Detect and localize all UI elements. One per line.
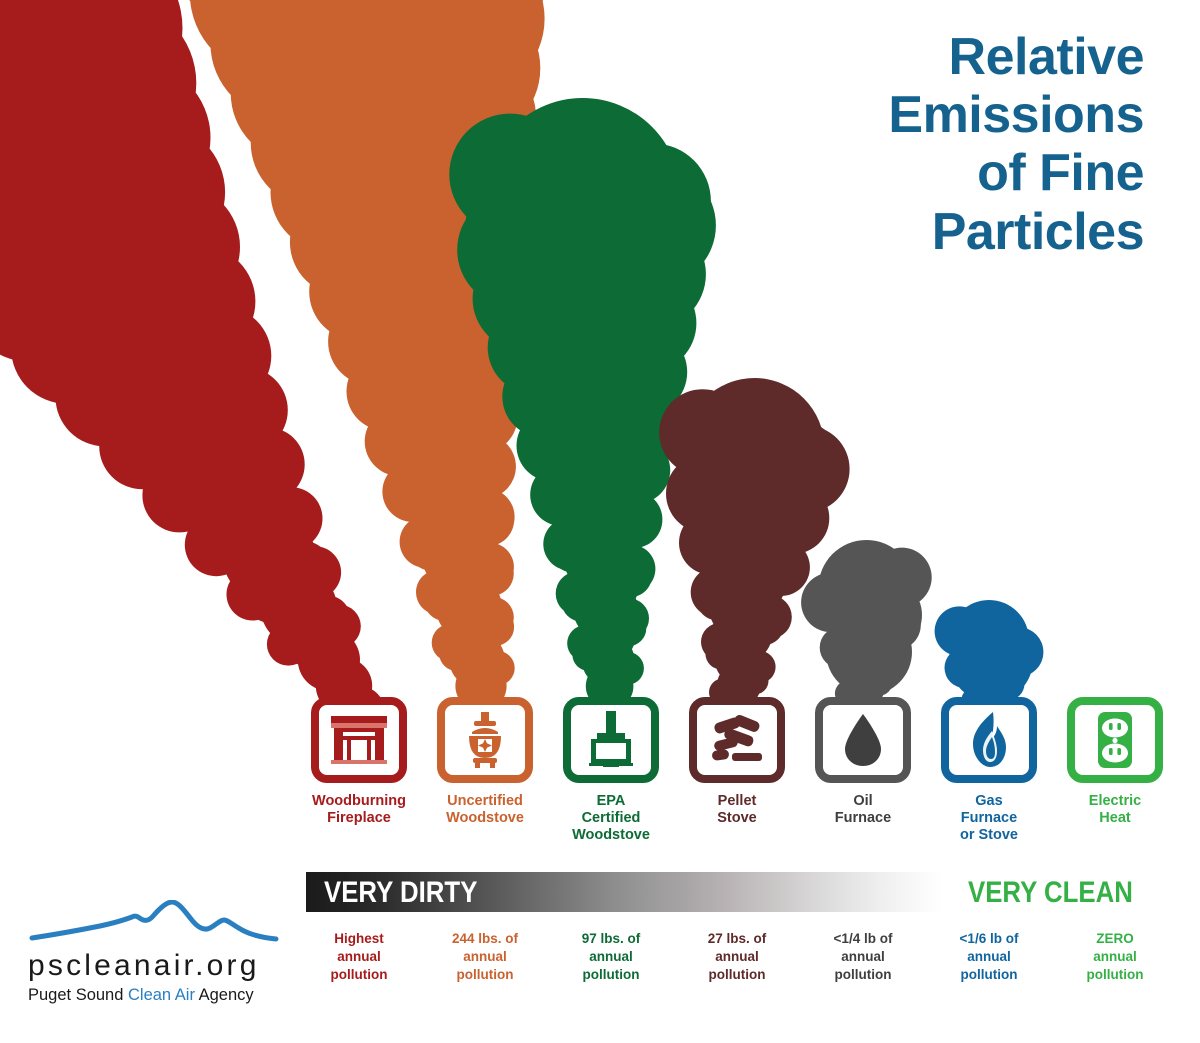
fireplace-badge[interactable] <box>311 697 407 783</box>
cleanliness-gradient-bar: VERY DIRTY <box>306 872 942 912</box>
title-line-1: Relative <box>814 28 1144 86</box>
source-woodburning-fireplace[interactable]: Woodburning Fireplace <box>296 697 422 827</box>
title-line-2: Emissions <box>814 86 1144 144</box>
stat-gas-furnace: <1/6 lb of annual pollution <box>926 930 1052 985</box>
source-gas-furnace[interactable]: Gas Furnace or Stove <box>926 697 1052 844</box>
stat-epa-certified-woodstove: 97 lbs. of annual pollution <box>548 930 674 985</box>
epa-stove-icon <box>583 711 639 769</box>
page-title: Relative Emissions of Fine Particles <box>814 28 1144 261</box>
source-icon-row: Woodburning Fireplace <box>296 697 1176 847</box>
tagline-accent: Clean Air <box>128 986 195 1004</box>
logo-wordmark: pscleanair.org <box>28 951 286 981</box>
plume-pellet-stove <box>659 378 849 731</box>
oil-droplet-icon <box>840 712 886 768</box>
very-clean-label: VERY CLEAN <box>968 876 1133 910</box>
epa-stove-badge[interactable] <box>563 697 659 783</box>
title-line-4: Particles <box>814 203 1144 261</box>
source-label: Woodburning Fireplace <box>296 793 422 827</box>
gas-flame-icon <box>967 711 1011 769</box>
stat-pellet-stove: 27 lbs. of annual pollution <box>674 930 800 985</box>
stat-oil-furnace: <1/4 lb of annual pollution <box>800 930 926 985</box>
plume-gas-furnace-or-stove <box>949 618 1033 702</box>
source-electric-heat[interactable]: Electric Heat <box>1052 697 1178 827</box>
pellet-badge[interactable] <box>689 697 785 783</box>
oil-badge[interactable] <box>815 697 911 783</box>
source-uncertified-woodstove[interactable]: Uncertified Woodstove <box>422 697 548 827</box>
source-label: EPA Certified Woodstove <box>548 793 674 844</box>
logo-tagline: Puget Sound Clean Air Agency <box>28 987 286 1004</box>
stat-uncertified-woodstove: 244 lbs. of annual pollution <box>422 930 548 985</box>
mountain-icon <box>28 900 280 944</box>
woodstove-icon <box>458 712 512 768</box>
title-line-3: of Fine <box>814 144 1144 202</box>
source-pellet-stove[interactable]: Pellet Stove <box>674 697 800 827</box>
electric-outlet-icon <box>1092 710 1138 770</box>
woodstove-badge[interactable] <box>437 697 533 783</box>
agency-logo[interactable]: pscleanair.org Puget Sound Clean Air Age… <box>28 900 286 1004</box>
infographic-canvas: Relative Emissions of Fine Particles <box>0 0 1200 1043</box>
fireplace-icon <box>329 714 389 766</box>
electric-badge[interactable] <box>1067 697 1163 783</box>
source-label: Oil Furnace <box>800 793 926 827</box>
pellet-logs-icon <box>708 714 766 766</box>
stat-woodburning-fireplace: Highest annual pollution <box>296 930 422 985</box>
very-dirty-label: VERY DIRTY <box>324 876 477 910</box>
tagline-post: Agency <box>195 986 254 1004</box>
stat-electric-heat: ZERO annual pollution <box>1052 930 1178 985</box>
pollution-stats-row: Highest annual pollution 244 lbs. of ann… <box>296 930 1176 1010</box>
source-oil-furnace[interactable]: Oil Furnace <box>800 697 926 827</box>
source-label: Gas Furnace or Stove <box>926 793 1052 844</box>
source-epa-certified-woodstove[interactable]: EPA Certified Woodstove <box>548 697 674 844</box>
gas-badge[interactable] <box>941 697 1037 783</box>
tagline-pre: Puget Sound <box>28 986 128 1004</box>
source-label: Electric Heat <box>1052 793 1178 827</box>
source-label: Uncertified Woodstove <box>422 793 548 827</box>
source-label: Pellet Stove <box>674 793 800 827</box>
